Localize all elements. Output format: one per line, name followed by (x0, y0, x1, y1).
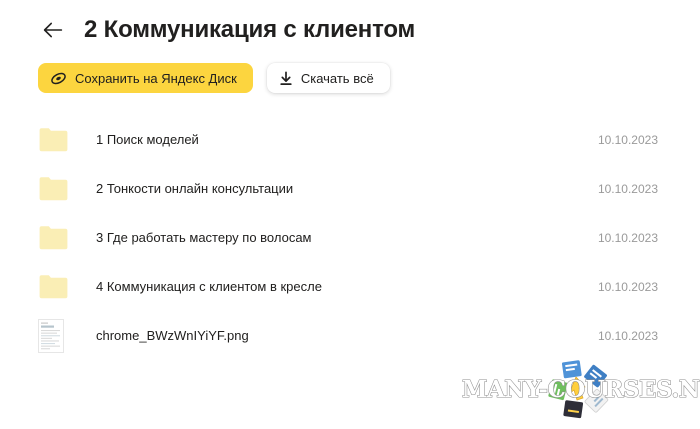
list-item[interactable]: 2 Тонкости онлайн консультации 10.10.202… (38, 164, 658, 213)
list-item[interactable]: 1 Поиск моделей 10.10.2023 (38, 115, 658, 164)
back-button[interactable] (40, 17, 66, 43)
download-all-button[interactable]: Скачать всё (267, 63, 390, 93)
file-date: 10.10.2023 (598, 280, 658, 294)
file-name: 3 Где работать мастеру по волосам (96, 230, 598, 245)
toolbar: Сохранить на Яндекс Диск Скачать всё (0, 50, 700, 93)
file-list: 1 Поиск моделей 10.10.2023 2 Тонкости он… (0, 115, 700, 360)
save-to-yandex-disk-button[interactable]: Сохранить на Яндекс Диск (38, 63, 253, 93)
yandex-disk-icon (50, 71, 67, 86)
arrow-left-icon (43, 22, 63, 38)
save-button-label: Сохранить на Яндекс Диск (75, 72, 237, 85)
list-item[interactable]: 4 Коммуникация с клиентом в кресле 10.10… (38, 262, 658, 311)
watermark-text: MANY-COURSES.NET (462, 376, 700, 403)
file-date: 10.10.2023 (598, 133, 658, 147)
list-item[interactable]: chrome_BWzWnIYiYF.png 10.10.2023 (38, 311, 658, 360)
file-date: 10.10.2023 (598, 329, 658, 343)
folder-icon (38, 176, 78, 202)
download-button-label: Скачать всё (301, 72, 374, 85)
download-icon (279, 71, 293, 86)
folder-icon (38, 274, 78, 300)
file-name: 1 Поиск моделей (96, 132, 598, 147)
file-name: chrome_BWzWnIYiYF.png (96, 328, 598, 343)
watermark: MANY-COURSES.NET (462, 358, 700, 420)
file-name: 2 Тонкости онлайн консультации (96, 181, 598, 196)
folder-icon (38, 225, 78, 251)
file-date: 10.10.2023 (598, 231, 658, 245)
file-date: 10.10.2023 (598, 182, 658, 196)
list-item[interactable]: 3 Где работать мастеру по волосам 10.10.… (38, 213, 658, 262)
file-name: 4 Коммуникация с клиентом в кресле (96, 279, 598, 294)
page-header: 2 Коммуникация с клиентом (0, 0, 700, 50)
folder-icon (38, 127, 78, 153)
page-title: 2 Коммуникация с клиентом (84, 16, 415, 44)
image-thumbnail-icon (38, 319, 78, 353)
courses-globe-icon (540, 358, 618, 425)
